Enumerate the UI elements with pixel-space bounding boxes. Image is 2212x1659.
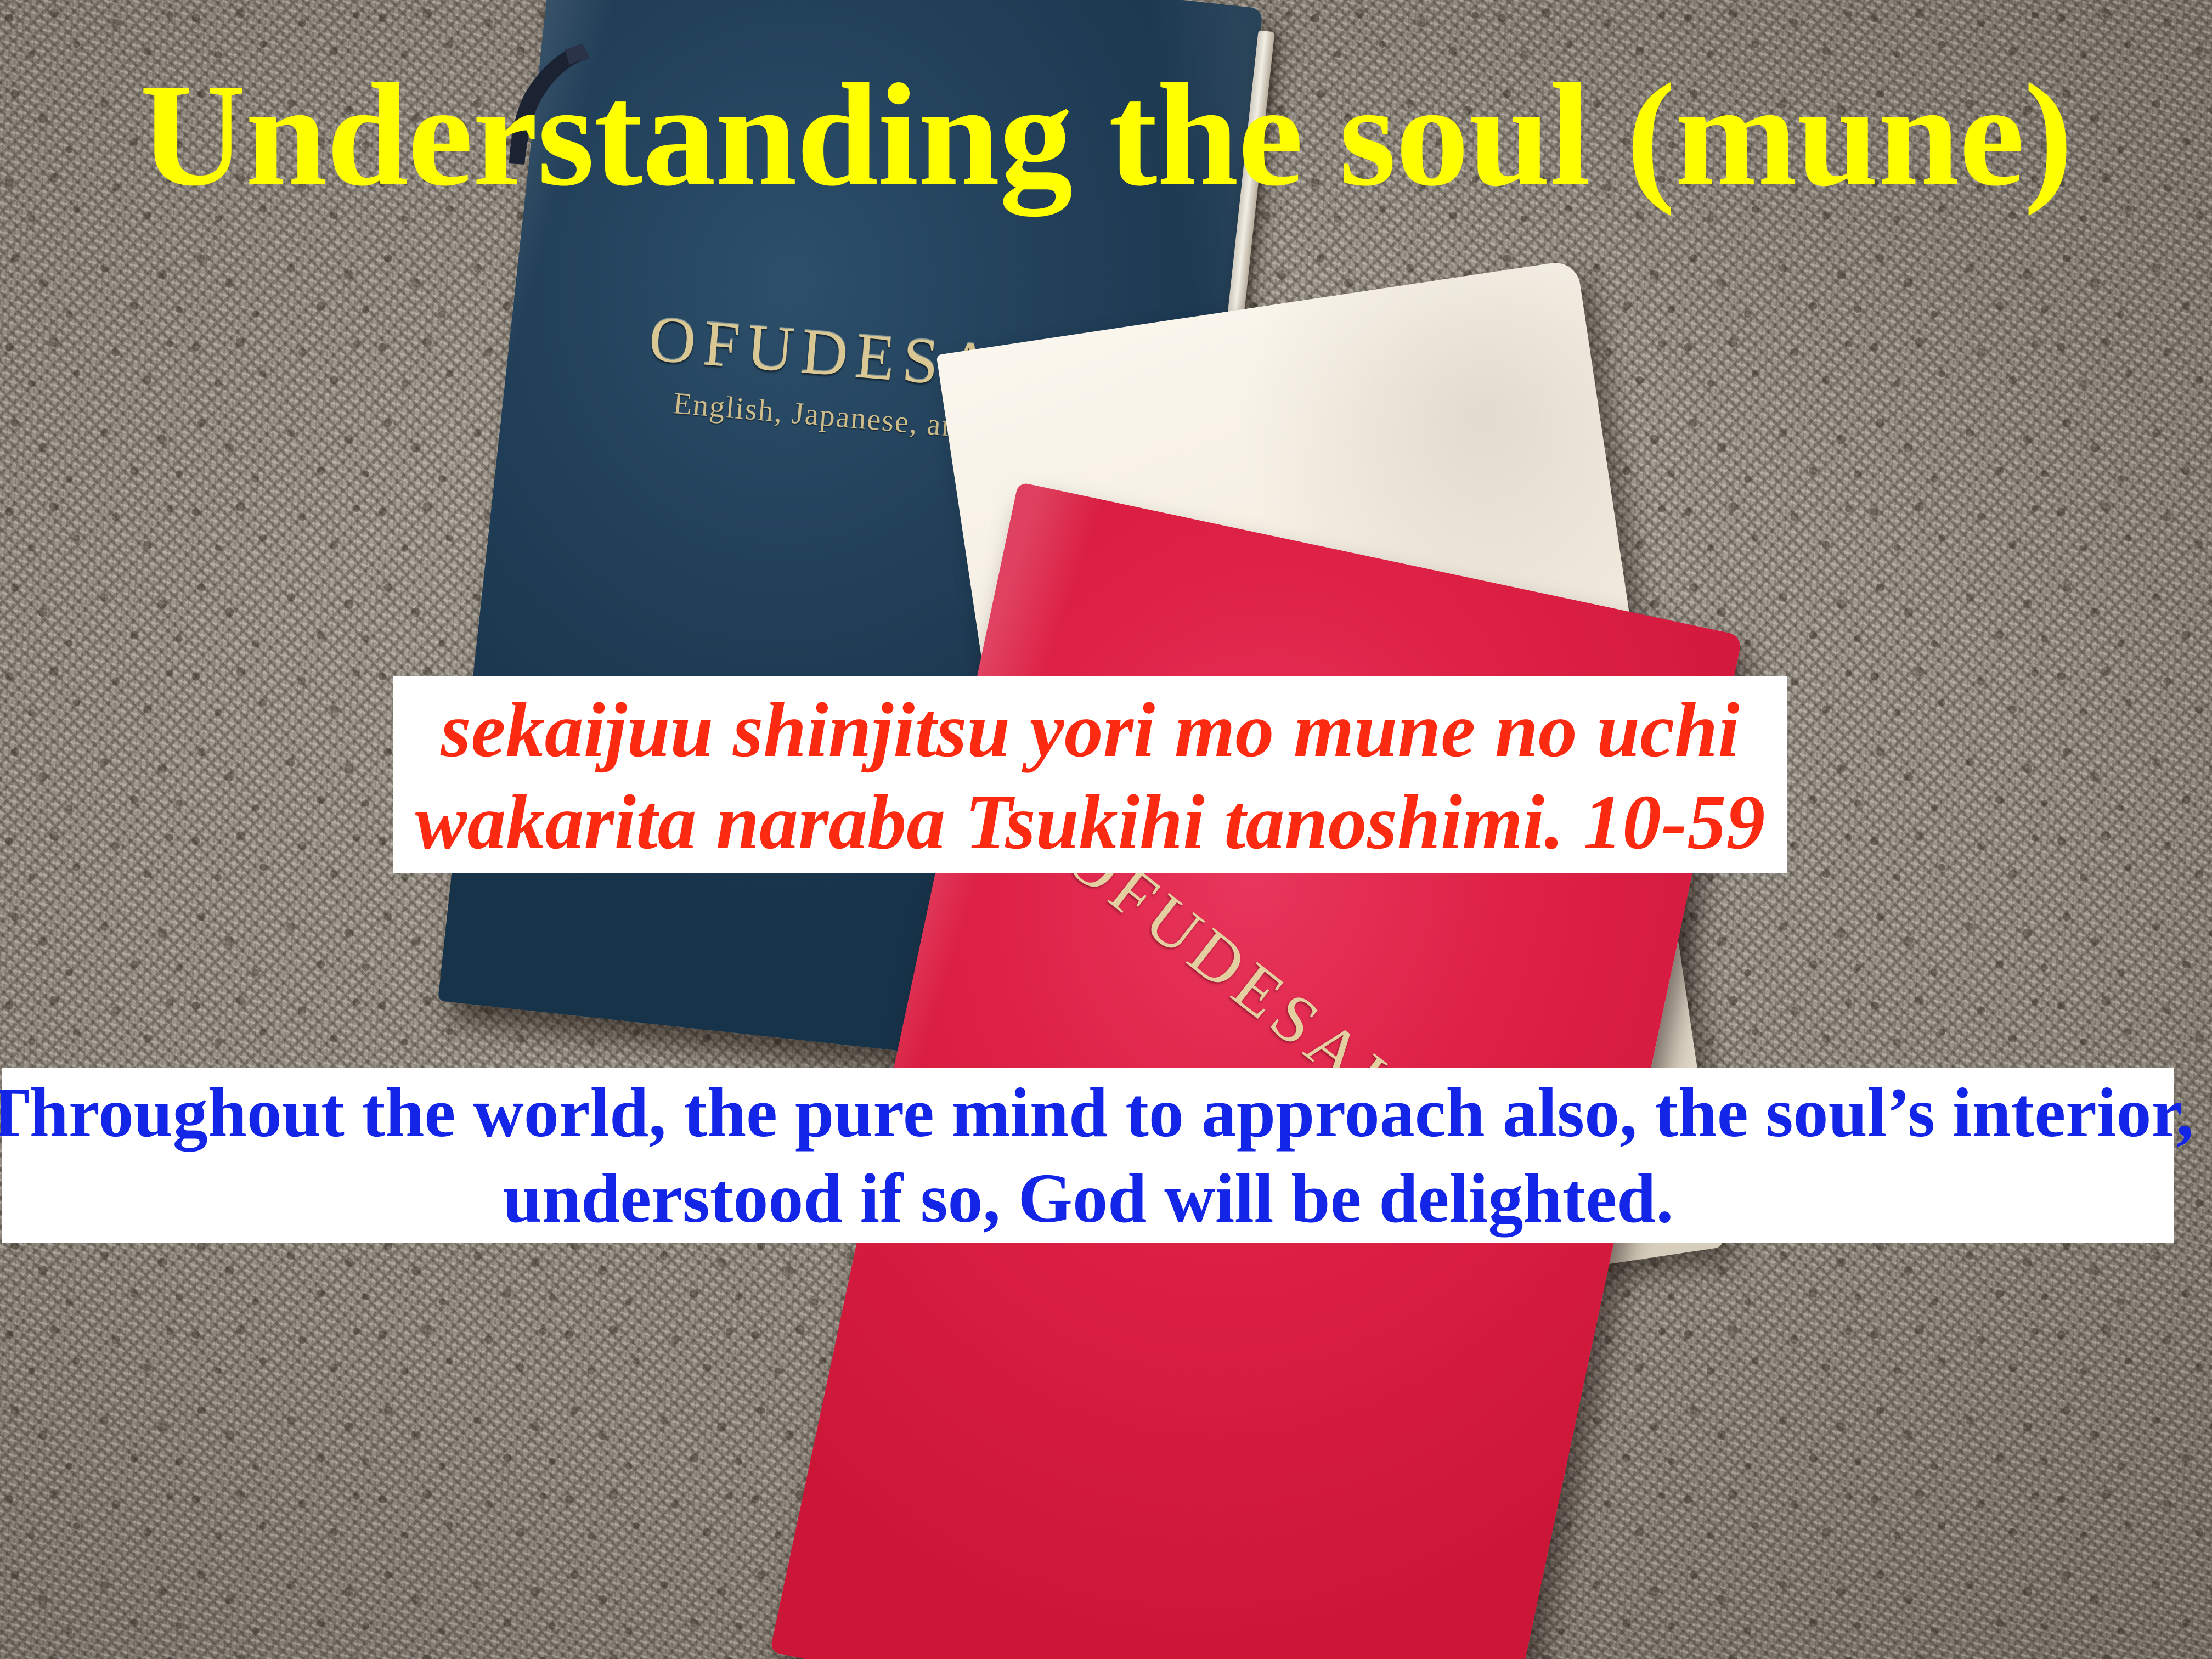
translation-line-1: Throughout the world, the pure mind to a… <box>0 1070 2194 1155</box>
romaji-line-1: sekaijuu shinjitsu yori mo mune no uchi <box>441 684 1739 776</box>
slide-title: Understanding the soul (mune) <box>0 61 2212 208</box>
translation-text-box: Throughout the world, the pure mind to a… <box>2 1068 2174 1243</box>
translation-line-2: understood if so, God will be delighted. <box>503 1155 1674 1241</box>
romaji-line-2: wakarita naraba Tsukihi tanoshimi. 10-59 <box>415 776 1765 868</box>
slide-canvas: OFUDESAKI English, Japanese, and Rom Ofu… <box>0 0 2212 1659</box>
romaji-text-box: sekaijuu shinjitsu yori mo mune no uchi … <box>393 676 1787 873</box>
